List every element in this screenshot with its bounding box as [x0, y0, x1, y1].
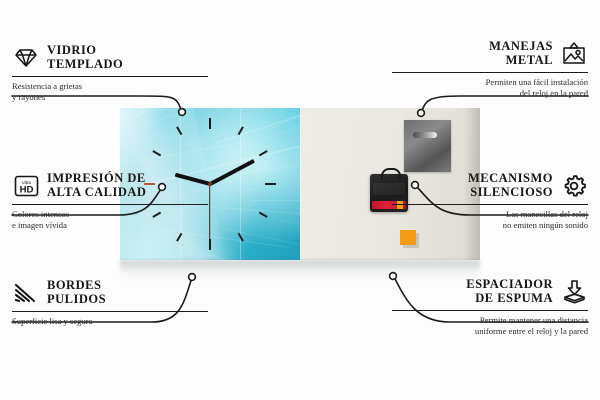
feature-header: BORDES PULIDOS	[12, 279, 208, 306]
feature-impresion-alta-calidad: ultra HD IMPRESIÓN DE ALTA CALIDAD Color…	[12, 172, 208, 230]
clock-center-hub	[208, 182, 212, 186]
ultra-hd-icon: ultra HD	[12, 173, 40, 199]
feature-title: ESPACIADOR DE ESPUMA	[466, 278, 553, 305]
infographic-canvas: VIDRIO TEMPLADO Resistencia a grietas y …	[0, 0, 600, 400]
feature-header: MANEJAS METAL	[392, 40, 588, 67]
feature-title: IMPRESIÓN DE ALTA CALIDAD	[47, 172, 146, 199]
feature-description: Resistencia a grietas y rayones	[12, 81, 208, 102]
feature-header: MECANISMO SILENCIOSO	[392, 172, 588, 199]
feature-header: ultra HD IMPRESIÓN DE ALTA CALIDAD	[12, 172, 208, 199]
feature-bordes-pulidos: BORDES PULIDOS Superficie lisa y segura	[12, 279, 208, 327]
feature-title: BORDES PULIDOS	[47, 279, 106, 306]
feather-streak	[280, 220, 300, 242]
feature-description: Permite mantener una distancia uniforme …	[392, 315, 588, 336]
diamond-icon	[12, 45, 40, 71]
feature-title: VIDRIO TEMPLADO	[47, 44, 123, 71]
feature-rule	[12, 311, 208, 312]
feature-rule	[392, 204, 588, 205]
feature-rule	[392, 72, 588, 73]
feature-header: ESPACIADOR DE ESPUMA	[392, 278, 588, 305]
feature-rule	[12, 76, 208, 77]
feature-title: MANEJAS METAL	[489, 40, 553, 67]
feather-streak	[216, 108, 300, 144]
feature-title: MECANISMO SILENCIOSO	[468, 172, 553, 199]
metal-hanger-plate	[404, 120, 451, 172]
feature-espaciador-de-espuma: ESPACIADOR DE ESPUMA Permite mantener un…	[392, 278, 588, 336]
clock-tick	[265, 183, 276, 185]
hanging-frame-icon	[560, 41, 588, 67]
feature-header: VIDRIO TEMPLADO	[12, 44, 208, 71]
ultra-hd-main-text: HD	[19, 184, 33, 195]
feather-streak	[252, 200, 300, 201]
feature-vidrio-templado: VIDRIO TEMPLADO Resistencia a grietas y …	[12, 44, 208, 102]
hanger-slot	[413, 132, 437, 138]
feature-rule	[392, 310, 588, 311]
feature-mecanismo-silencioso: MECANISMO SILENCIOSO Las manecillas del …	[392, 172, 588, 230]
clock-tick	[209, 118, 211, 129]
feature-description: Colores intensos e imagen vívida	[12, 209, 208, 230]
gear-icon	[560, 173, 588, 199]
feature-description: Superficie lisa y segura	[12, 316, 208, 327]
feature-description: Las manecillas del reloj no emiten ningú…	[392, 209, 588, 230]
foam-spacer	[400, 230, 416, 245]
feature-manejas-metal: MANEJAS METAL Permiten una fácil instala…	[392, 40, 588, 98]
clock-tick	[259, 212, 268, 218]
feature-description: Permiten una fácil instalación del reloj…	[392, 77, 588, 98]
feature-rule	[12, 204, 208, 205]
polished-edges-icon	[12, 280, 40, 306]
foam-spacer-arrow-icon	[560, 279, 588, 305]
feather-streak	[224, 228, 300, 254]
